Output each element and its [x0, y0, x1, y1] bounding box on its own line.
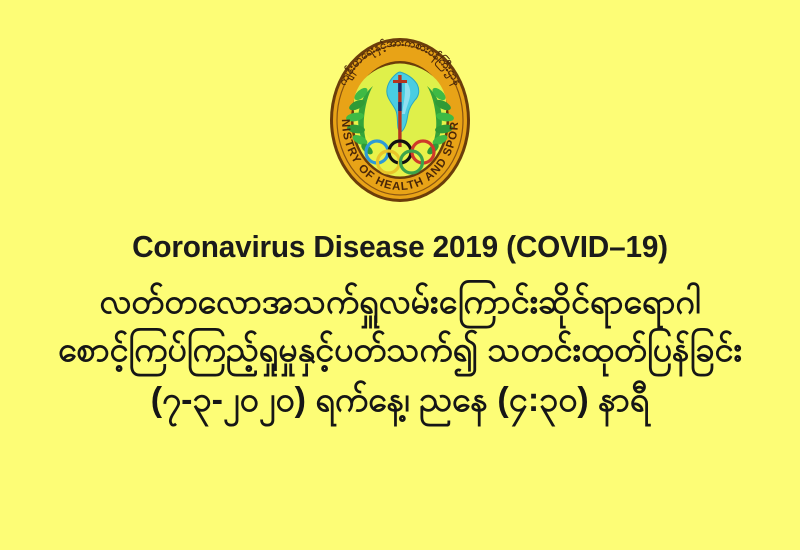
announcement-line-burmese-2: စောင့်ကြပ်ကြည့်ရှုမှုနှင့်ပတ်သက်၍ သတင်းထ…	[0, 333, 800, 383]
seal-graphic: ကျန်းမာရေးနှင့်အားကစားဝန်ကြီးဌာန MINISTR…	[315, 28, 485, 208]
announcement-title-english: Coronavirus Disease 2019 (COVID–19)	[16, 228, 784, 265]
announcement-text-block: Coronavirus Disease 2019 (COVID–19) လတ်တ…	[0, 228, 800, 417]
ministry-seal-logo: ကျန်းမာရေးနှင့်အားကစားဝန်ကြီးဌာန MINISTR…	[315, 28, 485, 208]
announcement-page: ကျန်းမာရေးနှင့်အားကစားဝန်ကြီးဌာန MINISTR…	[0, 0, 800, 550]
announcement-datetime-burmese: (၇-၃-၂၀၂၀) ရက်နေ့၊ ညနေ (၄:၃၀) နာရီ	[0, 383, 800, 417]
announcement-line-burmese-1: လတ်တလောအသက်ရှူလမ်းကြောင်းဆိုင်ရာရောဂါ	[0, 279, 800, 333]
